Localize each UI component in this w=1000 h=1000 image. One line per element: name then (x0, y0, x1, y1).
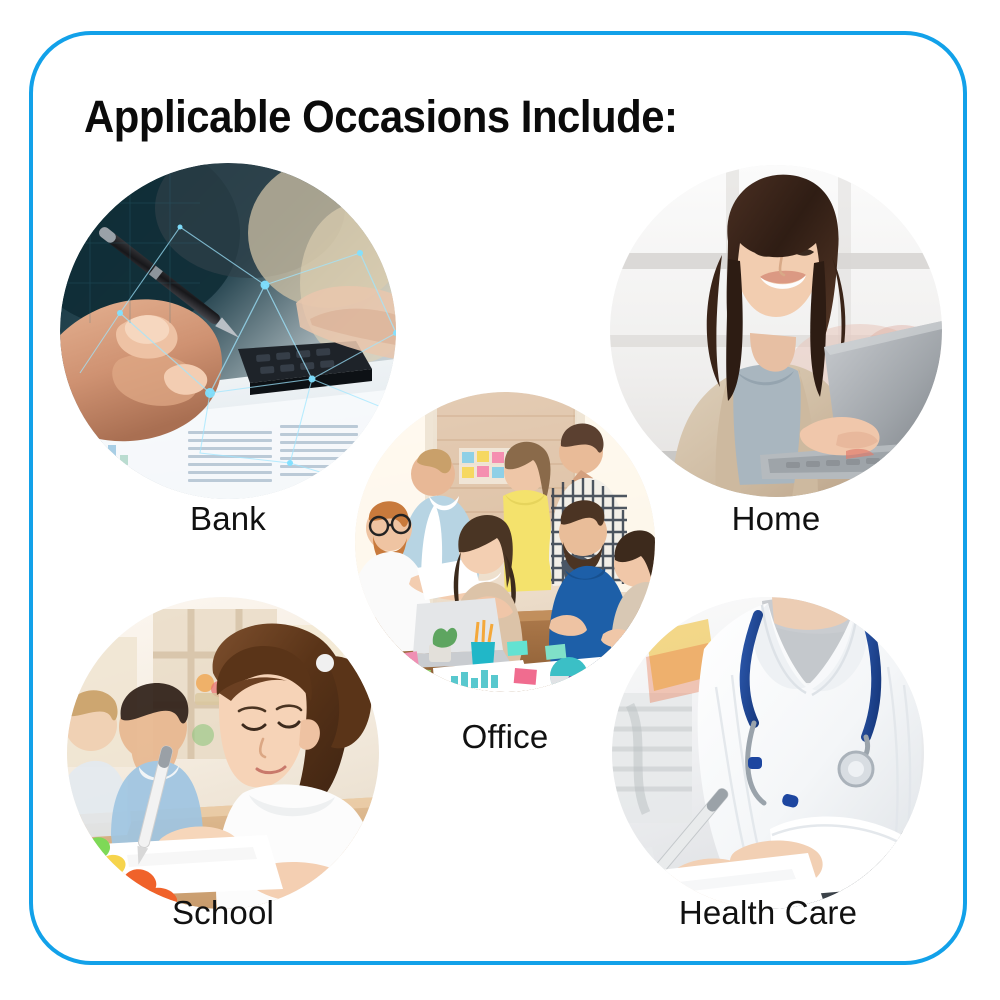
occasion-label-home: Home (610, 500, 942, 538)
page-title: Applicable Occasions Include: (84, 92, 678, 142)
occasion-label-health-care: Health Care (600, 894, 936, 932)
occasion-label-school: School (67, 894, 379, 932)
school-photo-circle (67, 597, 379, 909)
occasion-tile-bank (60, 163, 396, 499)
promo-graphic: Applicable Occasions Include: (0, 0, 1000, 1000)
occasion-tile-home (610, 165, 942, 497)
occasion-tile-health-care (612, 597, 924, 909)
occasion-label-office: Office (355, 718, 655, 756)
bank-photo-circle (60, 163, 396, 499)
occasion-label-bank: Bank (60, 500, 396, 538)
occasion-tile-school (67, 597, 379, 909)
office-photo-circle (355, 392, 655, 692)
health-care-photo-circle (612, 597, 924, 909)
home-photo-circle (610, 165, 942, 497)
occasion-tile-office (355, 392, 655, 692)
